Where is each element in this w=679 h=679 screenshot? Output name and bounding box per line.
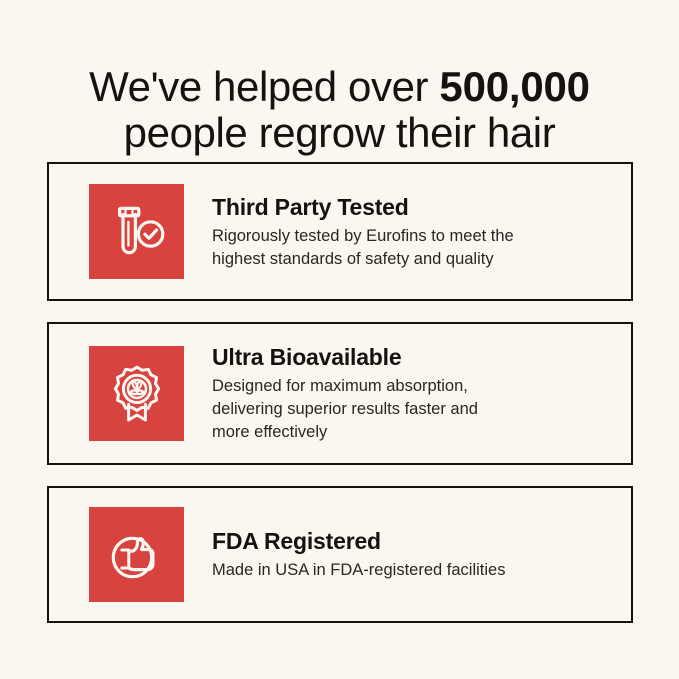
- card-description-line: Made in USA in FDA-registered facilities: [212, 559, 611, 582]
- icon-tile-third-party-tested: [89, 184, 184, 279]
- headline-count: 500,000: [439, 63, 589, 110]
- card-text-block: Third Party Tested Rigorously tested by …: [184, 193, 611, 271]
- card-title: Third Party Tested: [212, 193, 611, 221]
- headline-line-2: people regrow their hair: [32, 110, 647, 156]
- thumbs-up-circle-icon: [106, 524, 168, 586]
- icon-tile-fda-registered: [89, 507, 184, 602]
- benefit-card-fda-registered: FDA Registered Made in USA in FDA-regist…: [47, 486, 633, 623]
- promo-infographic: We've helped over 500,000 people regrow …: [0, 0, 679, 679]
- page-title: We've helped over 500,000 people regrow …: [0, 64, 679, 156]
- benefit-card-third-party-tested: Third Party Tested Rigorously tested by …: [47, 162, 633, 301]
- card-description-line: Designed for maximum absorption,: [212, 375, 611, 398]
- test-tube-check-icon: [106, 201, 168, 263]
- card-description: Rigorously tested by Eurofins to meet th…: [212, 225, 611, 271]
- card-description-line: more effectively: [212, 421, 611, 444]
- card-description: Made in USA in FDA-registered facilities: [212, 559, 611, 582]
- benefit-card-list: Third Party Tested Rigorously tested by …: [47, 162, 633, 623]
- card-title: FDA Registered: [212, 527, 611, 555]
- icon-tile-ultra-bioavailable: [89, 346, 184, 441]
- headline-line-1: We've helped over 500,000: [32, 64, 647, 110]
- card-title: Ultra Bioavailable: [212, 343, 611, 371]
- card-description-line: highest standards of safety and quality: [212, 248, 611, 271]
- card-description-line: delivering superior results faster and: [212, 398, 611, 421]
- benefit-card-ultra-bioavailable: Ultra Bioavailable Designed for maximum …: [47, 322, 633, 465]
- card-description: Designed for maximum absorption, deliver…: [212, 375, 611, 444]
- card-text-block: FDA Registered Made in USA in FDA-regist…: [184, 527, 611, 582]
- card-description-line: Rigorously tested by Eurofins to meet th…: [212, 225, 611, 248]
- headline-prefix: We've helped over: [89, 63, 439, 110]
- leaf-badge-ribbon-icon: [106, 363, 168, 425]
- card-text-block: Ultra Bioavailable Designed for maximum …: [184, 343, 611, 444]
